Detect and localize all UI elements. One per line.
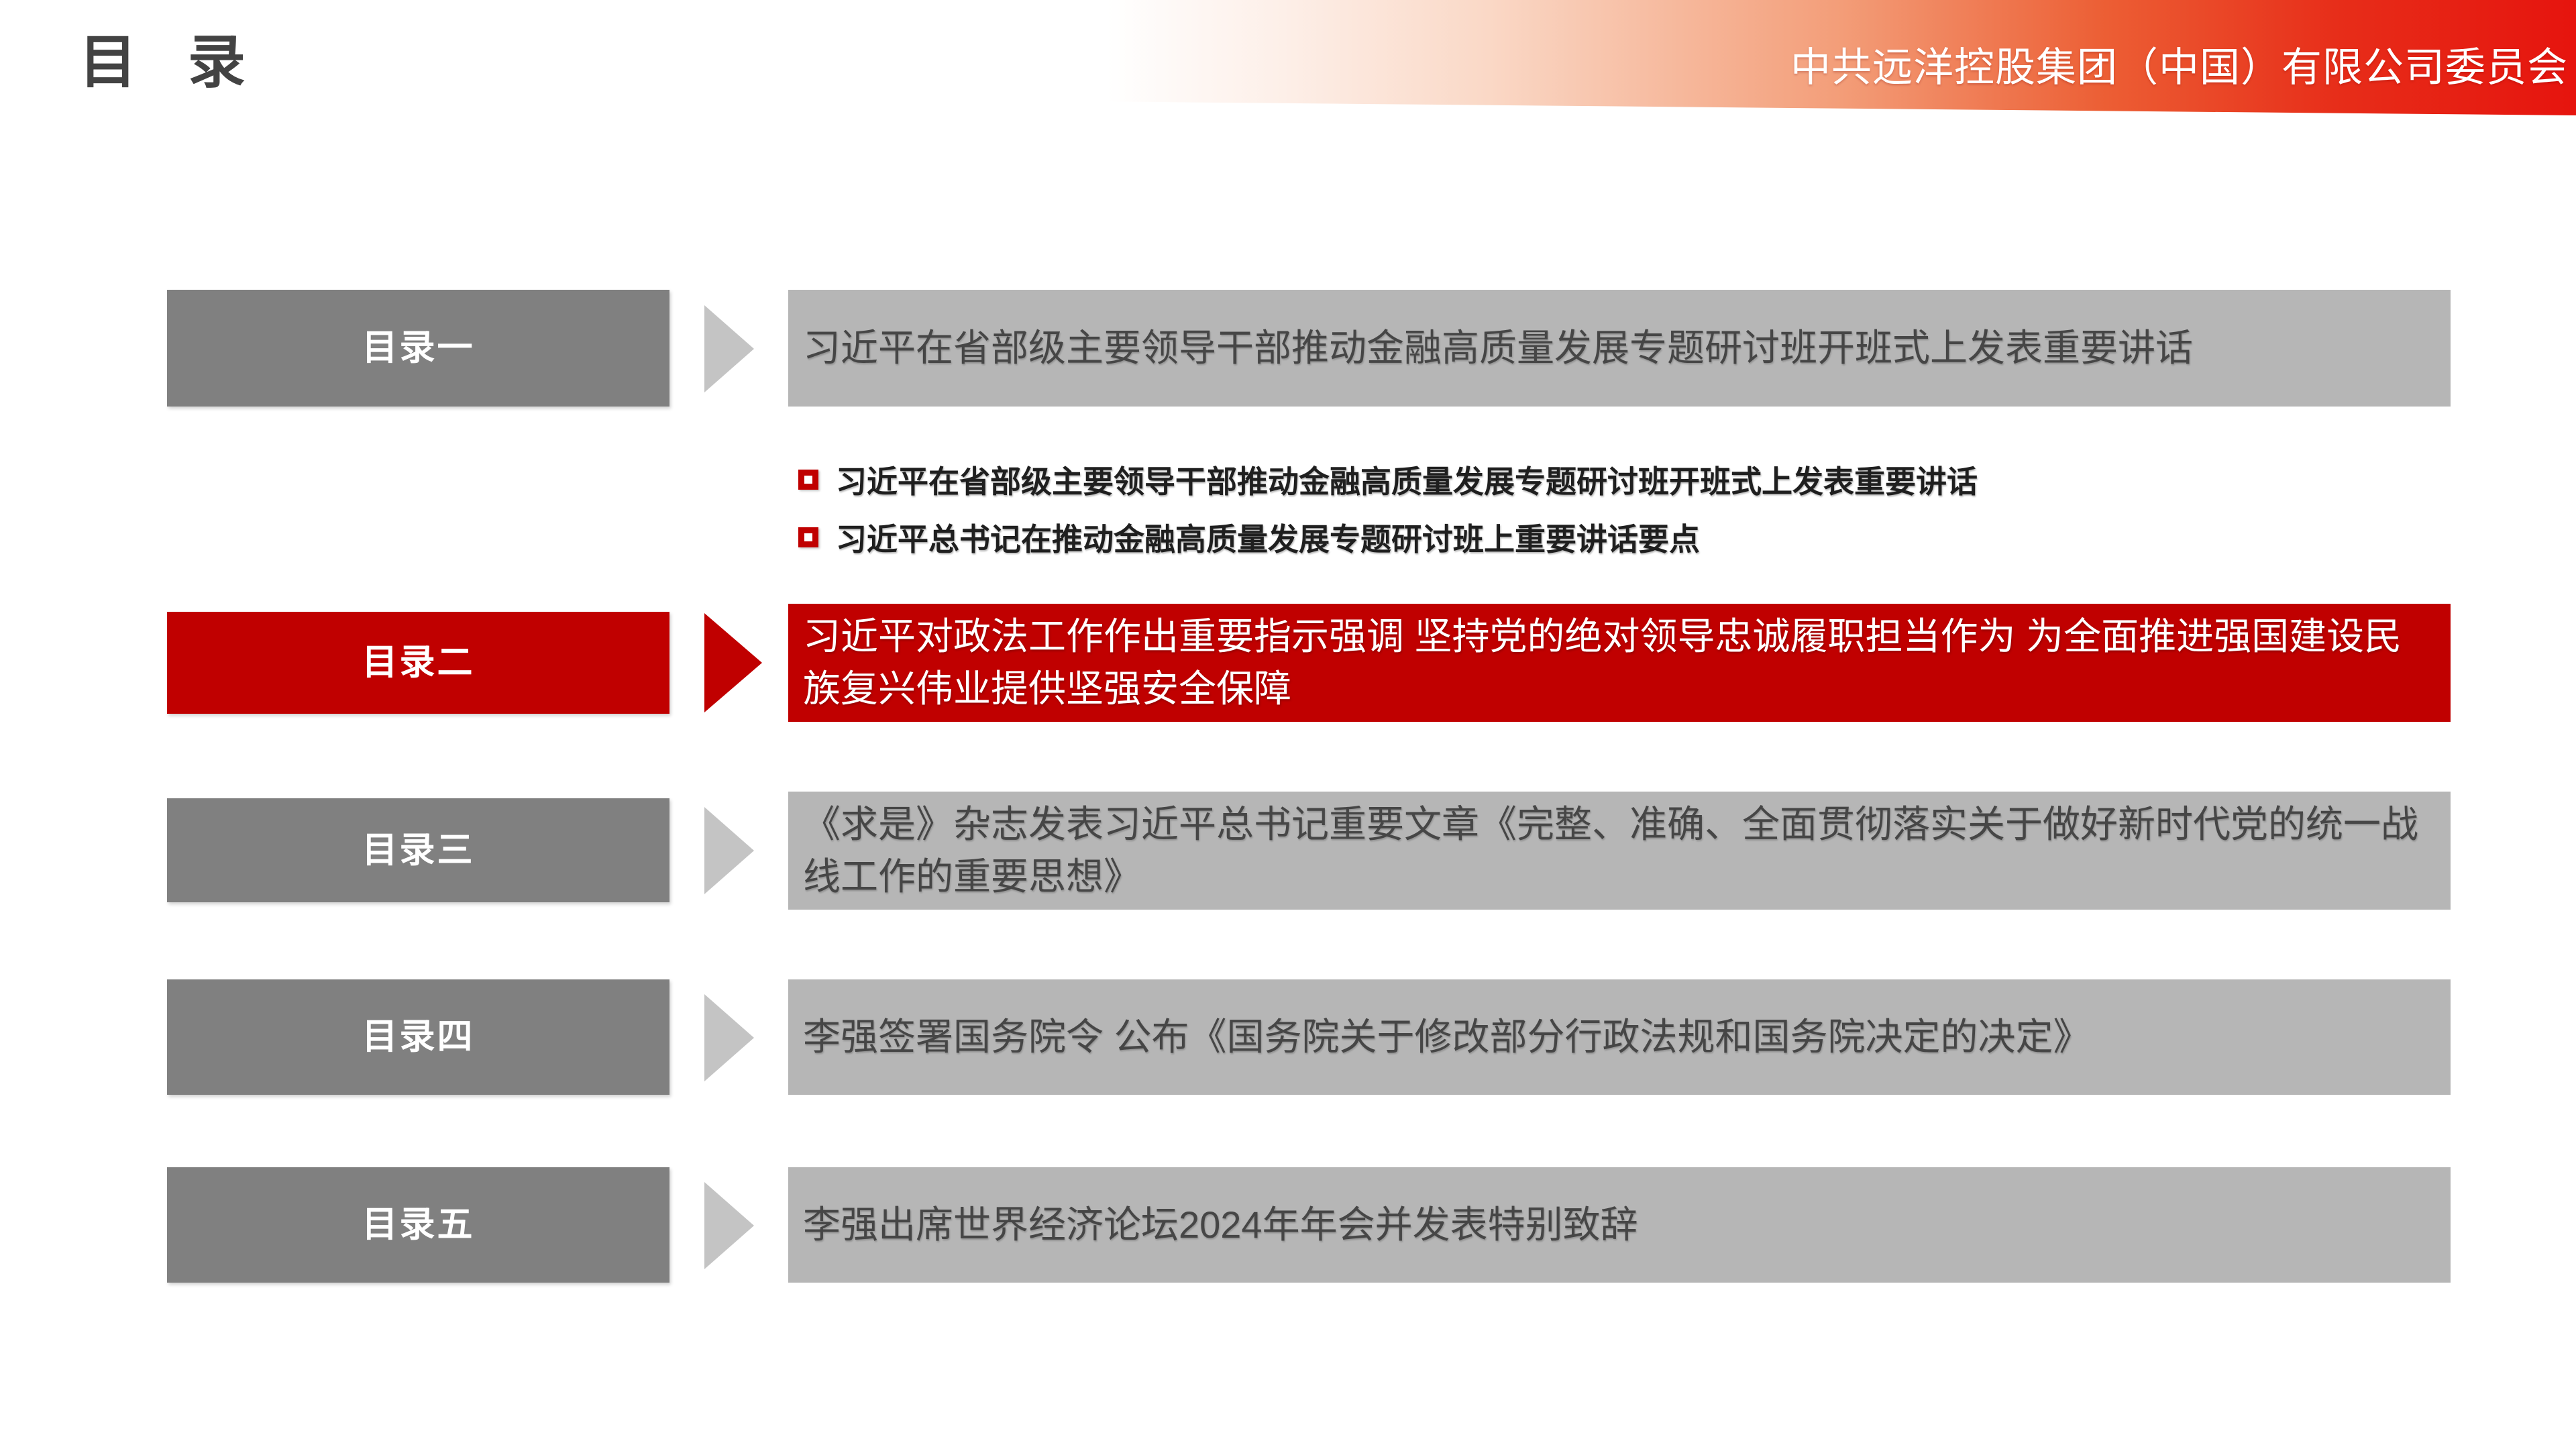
toc-panel-text: 习近平在省部级主要领导干部推动金融高质量发展专题研讨班开班式上发表重要讲话 (803, 322, 2436, 374)
toc-chip-label: 目录五 (362, 1167, 475, 1283)
list-item-label: 习近平在省部级主要领导干部推动金融高质量发展专题研讨班开班式上发表重要讲话 (836, 458, 1978, 502)
toc-chip-4[interactable]: 目录四 (167, 979, 669, 1095)
toc-arrow-icon-5 (704, 1182, 754, 1269)
toc-chip-label: 目录二 (362, 612, 475, 714)
toc-chip-label: 目录三 (362, 798, 475, 902)
toc-panel-text: 《求是》杂志发表习近平总书记重要文章《完整、准确、全面贯彻落实关于做好新时代党的… (803, 798, 2436, 903)
list-item[interactable]: 习近平总书记在推动金融高质量发展专题研讨班上重要讲话要点 (798, 508, 2475, 566)
toc-panel-text: 李强签署国务院令 公布《国务院关于修改部分行政法规和国务院决定的决定》 (803, 1011, 2436, 1063)
list-item-label: 习近平总书记在推动金融高质量发展专题研讨班上重要讲话要点 (836, 515, 1700, 559)
toc-panel-text: 李强出席世界经济论坛2024年年会并发表特别致辞 (803, 1199, 2436, 1251)
toc-chip-label: 目录四 (362, 979, 475, 1095)
table-of-contents: 目录一 习近平在省部级主要领导干部推动金融高质量发展专题研讨班开班式上发表重要讲… (0, 0, 2576, 1449)
toc-panel-3[interactable]: 《求是》杂志发表习近平总书记重要文章《完整、准确、全面贯彻落实关于做好新时代党的… (788, 792, 2451, 910)
toc-chip-1[interactable]: 目录一 (167, 290, 669, 407)
toc-panel-text: 习近平对政法工作作出重要指示强调 坚持党的绝对领导忠诚履职担当作为 为全面推进强… (803, 610, 2436, 715)
toc-sublist: 习近平在省部级主要领导干部推动金融高质量发展专题研讨班开班式上发表重要讲话 习近… (798, 451, 2475, 566)
toc-panel-2[interactable]: 习近平对政法工作作出重要指示强调 坚持党的绝对领导忠诚履职担当作为 为全面推进强… (788, 604, 2451, 722)
red-square-bullet-icon (798, 470, 818, 490)
toc-chip-label: 目录一 (362, 290, 475, 407)
toc-panel-4[interactable]: 李强签署国务院令 公布《国务院关于修改部分行政法规和国务院决定的决定》 (788, 979, 2451, 1095)
red-square-bullet-icon (798, 527, 818, 547)
toc-panel-1[interactable]: 习近平在省部级主要领导干部推动金融高质量发展专题研讨班开班式上发表重要讲话 (788, 290, 2451, 407)
toc-chip-3[interactable]: 目录三 (167, 798, 669, 902)
toc-arrow-icon-2 (704, 613, 762, 712)
toc-arrow-icon-3 (704, 807, 754, 894)
toc-arrow-icon-4 (704, 994, 754, 1081)
toc-chip-2[interactable]: 目录二 (167, 612, 669, 714)
toc-panel-5[interactable]: 李强出席世界经济论坛2024年年会并发表特别致辞 (788, 1167, 2451, 1283)
list-item[interactable]: 习近平在省部级主要领导干部推动金融高质量发展专题研讨班开班式上发表重要讲话 (798, 451, 2475, 508)
toc-arrow-icon-1 (704, 305, 754, 392)
toc-chip-5[interactable]: 目录五 (167, 1167, 669, 1283)
